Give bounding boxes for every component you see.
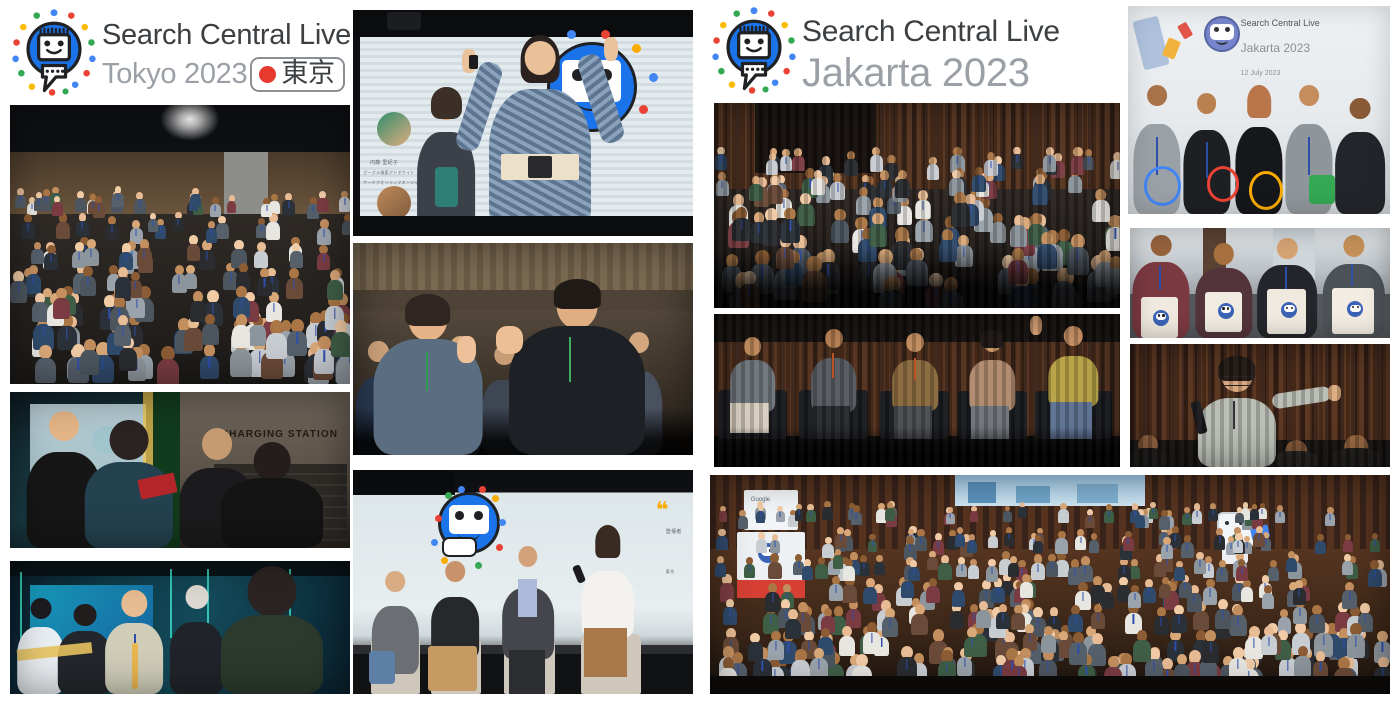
photo-tokyo-stage-yukata: 内藤 里紀子 グーグル検索アドボケイト サーチクオリティマネージャー 江沢 美和… bbox=[353, 10, 693, 236]
tokyo-header: Search Central Live Tokyo 2023 東京 bbox=[6, 6, 351, 107]
photo-jakarta-backdrop: Search Central Live Jakarta 2023 12 July… bbox=[1128, 6, 1390, 214]
jakarta-header: Search Central Live Jakarta 2023 bbox=[706, 4, 1060, 105]
event-photo-collage: Search Central Live Tokyo 2023 東京 bbox=[0, 0, 1400, 704]
photo-tokyo-heart-hands bbox=[353, 243, 693, 455]
japan-flag-dot-icon bbox=[259, 66, 276, 83]
photo-tokyo-afterparty bbox=[10, 561, 350, 694]
tokyo-title-line2: Tokyo 2023 bbox=[102, 60, 247, 89]
japan-flag-badge: 東京 bbox=[250, 57, 344, 92]
photo-jakarta-group-photo: Google bbox=[710, 475, 1390, 694]
photo-tokyo-gift-exchange: CHARGING STATION bbox=[10, 392, 350, 548]
photo-tokyo-panel-discussion: ❝ 登壇者 東京 bbox=[353, 470, 693, 694]
tokyo-kanji-label: 東京 bbox=[281, 60, 334, 88]
photo-jakarta-qna bbox=[1130, 344, 1390, 467]
jakarta-title-line2: Jakarta 2023 bbox=[802, 53, 1060, 93]
search-central-live-bot-logo-jakarta bbox=[706, 4, 802, 105]
photo-jakarta-stage-panel bbox=[714, 314, 1120, 467]
photo-jakarta-audience bbox=[714, 103, 1120, 308]
tokyo-title-line1: Search Central Live bbox=[102, 21, 351, 50]
jakarta-title-line1: Search Central Live bbox=[802, 17, 1060, 47]
photo-jakarta-totebags bbox=[1130, 228, 1390, 338]
photo-tokyo-audience bbox=[10, 105, 350, 384]
search-central-live-bot-logo-tokyo bbox=[6, 6, 102, 107]
